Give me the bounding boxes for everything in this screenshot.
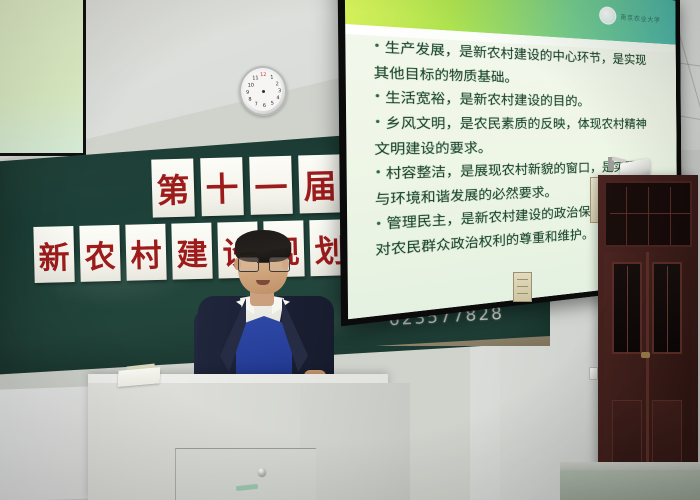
bullet-icon: • xyxy=(375,168,382,180)
floor-right xyxy=(560,470,700,500)
secondary-screen-surface xyxy=(0,0,83,153)
podium-side-left xyxy=(0,386,102,500)
banner-sheet: 一 xyxy=(249,156,293,215)
classroom-photo: 12 1 2 3 4 5 6 7 8 9 10 11 新农规赛事交流群号 623… xyxy=(0,0,700,500)
banner-sheet: 农 xyxy=(79,225,120,282)
clock-numeral: 12 xyxy=(260,73,267,78)
glasses-lens-left xyxy=(238,257,259,272)
secondary-screen xyxy=(0,0,86,156)
bullet-icon: • xyxy=(374,92,381,104)
slide-logo-text: 南京农业大学 xyxy=(620,12,660,25)
slide-line-text: 与环境和谐发展的必然要求。 xyxy=(375,183,557,207)
glasses-icon xyxy=(238,257,288,270)
clock-numeral: 4 xyxy=(276,96,279,101)
banner-row-top: 第 十 一 届 xyxy=(151,154,342,217)
banner-sheet: 届 xyxy=(298,154,342,213)
presenter xyxy=(196,228,336,388)
bullet-icon: • xyxy=(375,218,382,231)
banner-sheet: 村 xyxy=(125,224,166,281)
clock-numeral: 7 xyxy=(255,102,258,107)
podium-lock-icon[interactable] xyxy=(258,468,266,476)
wall-control-panel xyxy=(513,272,532,302)
slide-line-text: 生活宽裕，是新农村建设的目的。 xyxy=(385,89,589,109)
clock-numeral: 8 xyxy=(248,98,251,103)
glasses-lens-right xyxy=(269,257,290,272)
transom-window xyxy=(604,181,692,247)
slide-line-text: 其他目标的物质基础。 xyxy=(373,63,517,84)
bullet-icon: • xyxy=(374,117,381,129)
podium-side-right xyxy=(300,383,410,500)
door-center-stile xyxy=(646,252,649,495)
clock-numeral: 11 xyxy=(252,76,259,81)
clock-numeral: 3 xyxy=(278,89,281,94)
door-handle[interactable] xyxy=(641,352,650,358)
slide-line-text: 乡风文明，是农民素质的反映，体现农村精神 xyxy=(385,114,646,131)
clock-numeral: 6 xyxy=(263,104,266,109)
slide-line-text: 文明建设的要求。 xyxy=(374,139,491,157)
clock-face: 12 1 2 3 4 5 6 7 8 9 10 11 xyxy=(243,70,283,112)
door-glass-panel xyxy=(612,262,642,354)
university-seal-icon xyxy=(599,6,616,25)
light-switch[interactable] xyxy=(589,367,598,380)
clock-numeral: 1 xyxy=(270,75,273,80)
banner-sheet: 新 xyxy=(33,226,74,283)
clock-numeral: 10 xyxy=(248,83,255,88)
slide-line: •乡风文明，是农民素质的反映，体现农村精神 xyxy=(374,112,664,135)
glasses-bridge xyxy=(257,262,269,263)
bullet-icon: • xyxy=(373,41,380,54)
clock-numeral: 5 xyxy=(271,101,274,106)
banner-sheet: 第 xyxy=(151,158,195,217)
clock-center-pin xyxy=(261,89,264,92)
banner-sheet: 十 xyxy=(200,157,244,216)
podium-cabinet-door[interactable] xyxy=(175,448,316,500)
clock-numeral: 2 xyxy=(276,82,279,87)
door-glass-panel xyxy=(652,262,682,354)
clock-numeral: 9 xyxy=(246,91,249,96)
